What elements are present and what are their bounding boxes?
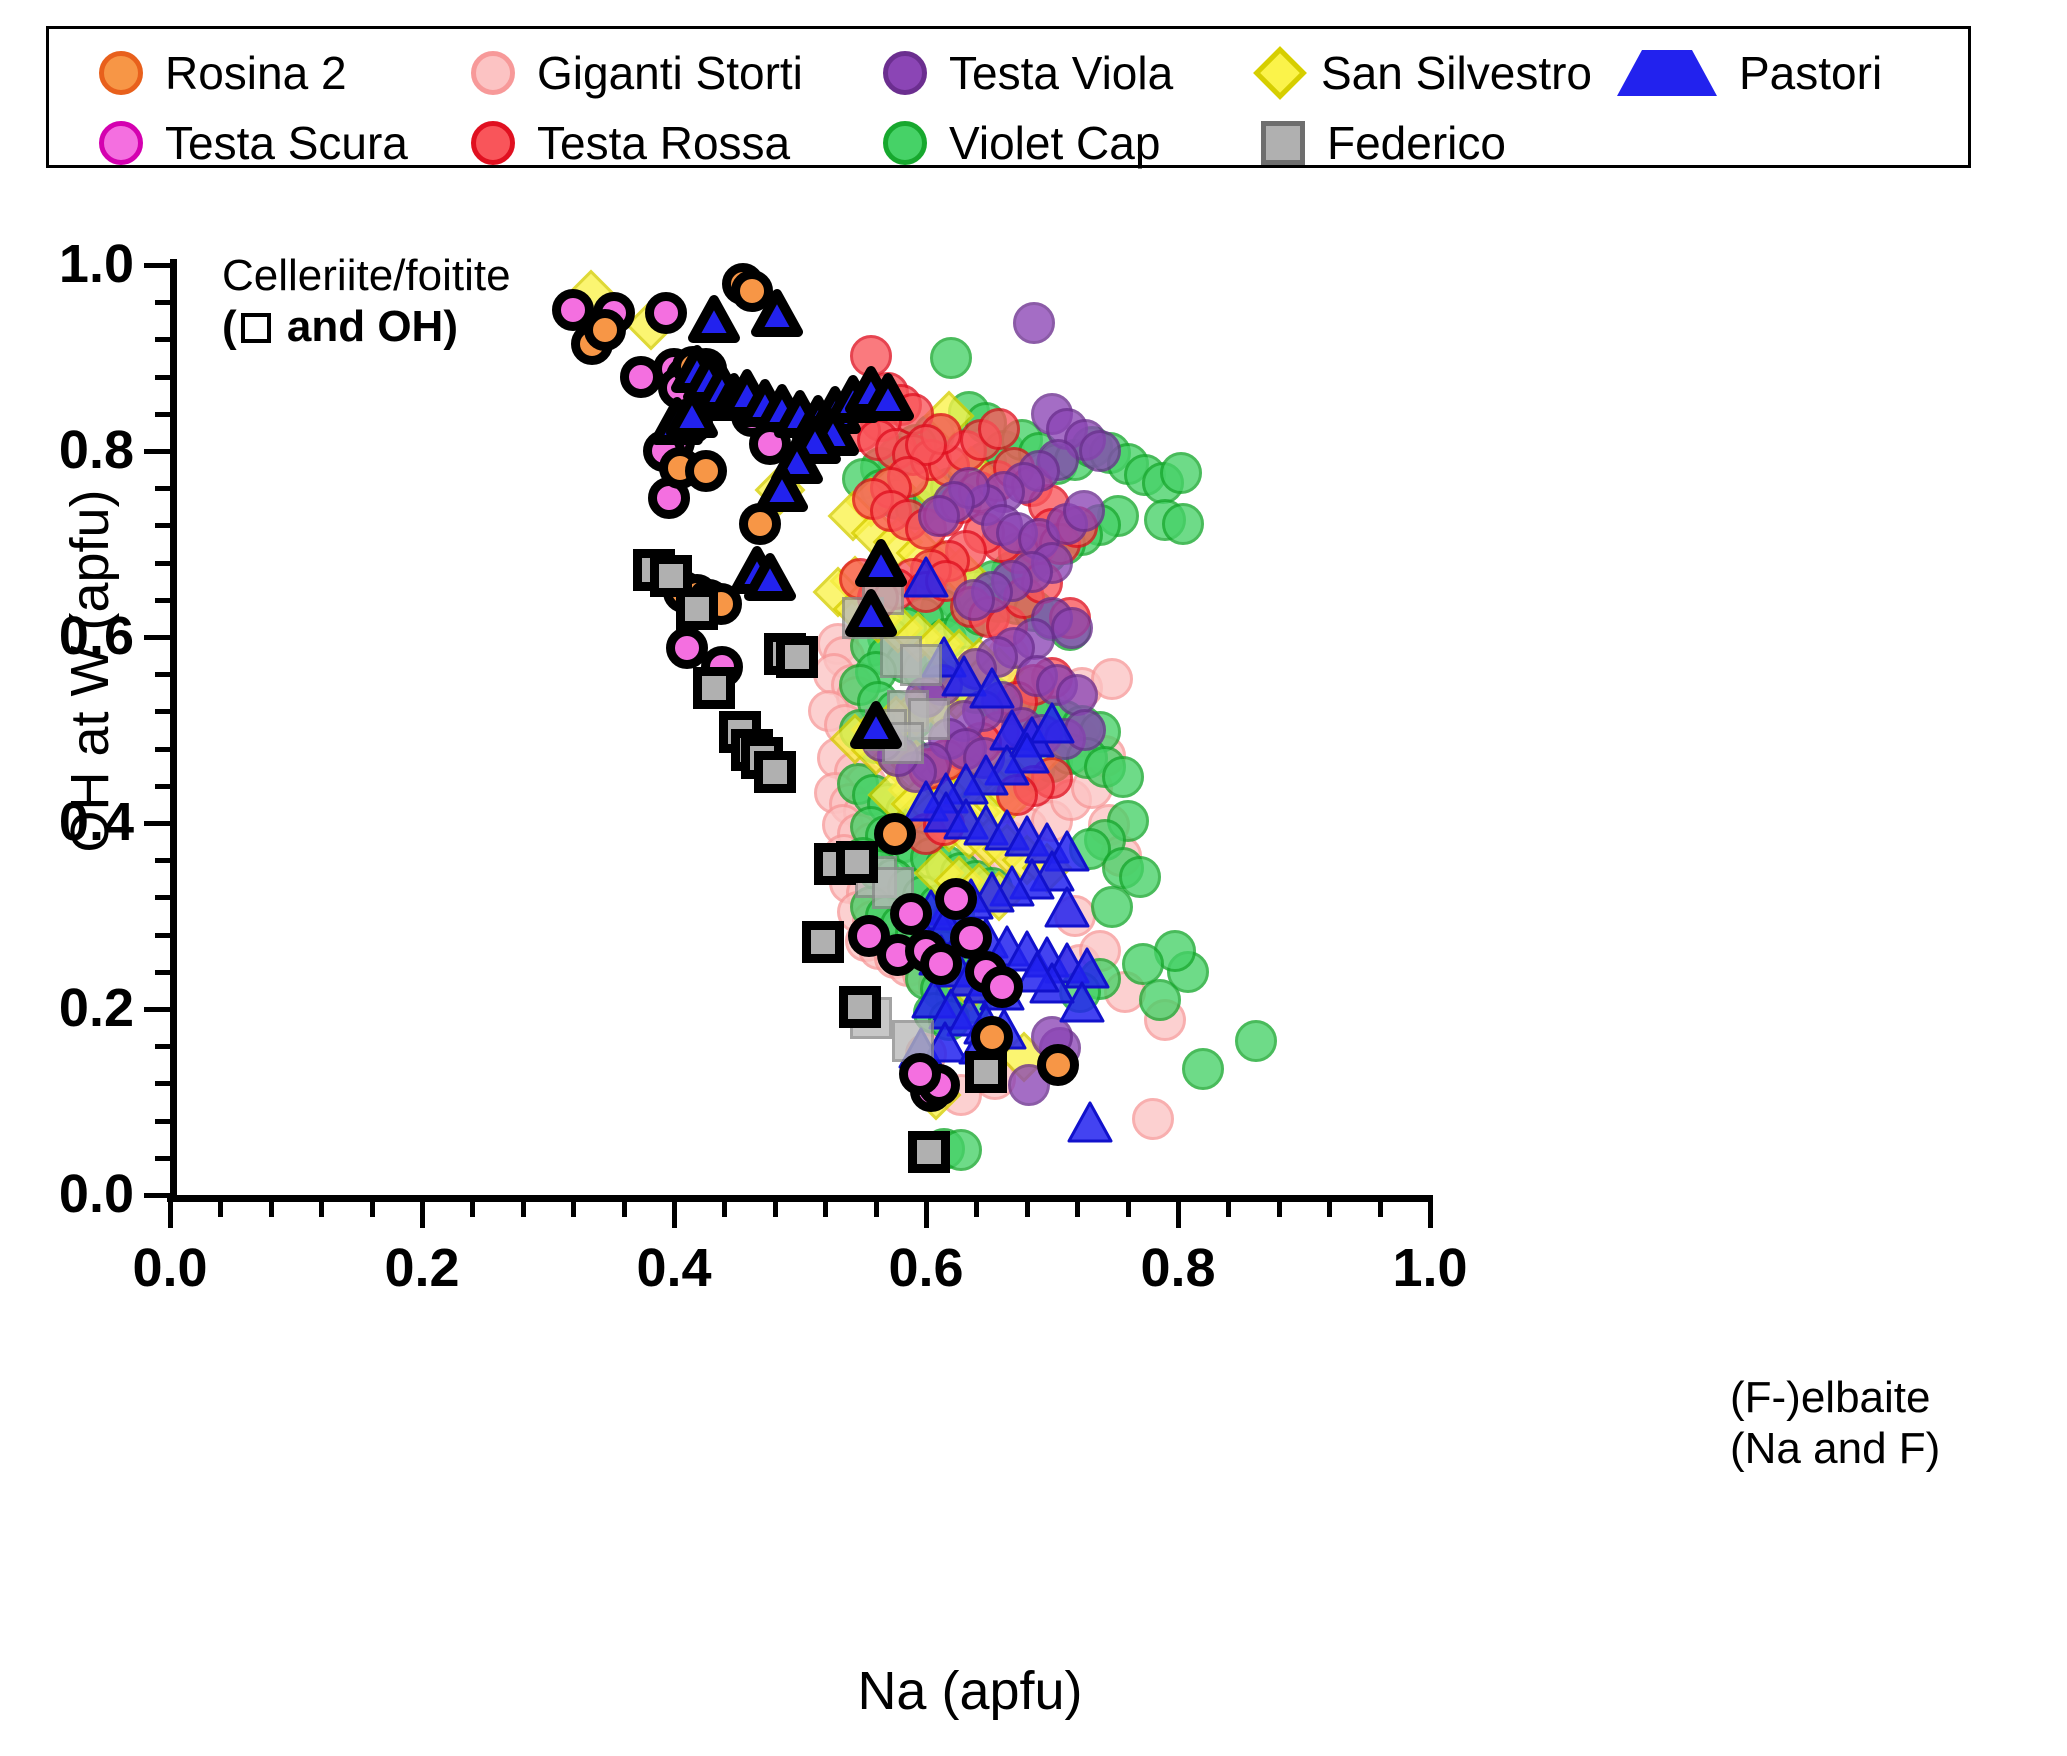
data-point-circle [1160, 452, 1202, 494]
x-tick [722, 1202, 727, 1217]
data-point-circle [1079, 430, 1121, 472]
x-tick-label: 0.0 [70, 1241, 270, 1295]
legend-label: Pastori [1739, 50, 1882, 96]
legend-item-testa-viola[interactable]: Testa Viola [883, 43, 1173, 103]
x-tick [672, 1202, 677, 1228]
x-tick [1025, 1202, 1030, 1217]
legend-item-testa-rossa[interactable]: Testa Rossa [471, 113, 790, 173]
legend-item-san-silvestro[interactable]: San Silvestro [1261, 43, 1592, 103]
data-point-circle [1063, 490, 1105, 532]
y-tick [155, 1119, 170, 1124]
y-tick [155, 412, 170, 417]
legend-item-testa-scura[interactable]: Testa Scura [99, 113, 408, 173]
data-point-triangle [749, 285, 805, 341]
x-tick [168, 1202, 173, 1228]
data-point-square [754, 751, 796, 793]
data-point-triangle [853, 535, 909, 591]
data-point-triangle [843, 585, 899, 641]
x-tick [622, 1202, 627, 1217]
legend-marker-circle-icon [99, 121, 143, 165]
legend-marker-circle-icon [471, 51, 515, 95]
y-tick [155, 858, 170, 863]
data-point-circle [978, 408, 1020, 450]
data-point-circle [1162, 503, 1204, 545]
legend-label: Testa Rossa [537, 120, 790, 166]
x-tick [1277, 1202, 1282, 1217]
y-tick [155, 300, 170, 305]
data-point-circle [1051, 607, 1093, 649]
data-point-circle [1132, 1098, 1174, 1140]
legend-marker-square-icon [1261, 121, 1305, 165]
x-tick [571, 1202, 576, 1217]
data-point-square [802, 921, 844, 963]
annotation-f-elbaite: (F-)elbaite (Na and F) [1730, 1372, 1940, 1474]
y-tick [144, 1007, 170, 1012]
y-tick [155, 1044, 170, 1049]
legend-row-1: Rosina 2Giganti StortiTesta ViolaSan Sil… [49, 43, 1968, 103]
legend-label: Testa Viola [949, 50, 1173, 96]
data-point-circle [874, 813, 916, 855]
x-tick [1428, 1202, 1433, 1228]
y-tick [155, 895, 170, 900]
data-point-circle [1037, 1044, 1079, 1086]
y-tick [155, 486, 170, 491]
x-tick [470, 1202, 475, 1217]
legend-label: Violet Cap [949, 120, 1160, 166]
annotation-br-line-2: (Na and F) [1730, 1423, 1940, 1474]
data-point-triangle [664, 386, 720, 442]
legend: Rosina 2Giganti StortiTesta ViolaSan Sil… [46, 26, 1971, 168]
x-tick [420, 1202, 425, 1228]
y-tick [144, 821, 170, 826]
legend-item-giganti-storti[interactable]: Giganti Storti [471, 43, 803, 103]
x-tick [924, 1202, 929, 1228]
legend-marker-circle-icon [883, 51, 927, 95]
data-point-circle [890, 893, 932, 935]
y-tick-label: 0.0 [0, 1167, 134, 1221]
x-tick [1176, 1202, 1181, 1228]
data-point-circle [1091, 886, 1133, 928]
x-tick [1126, 1202, 1131, 1217]
data-point-circle [918, 495, 960, 537]
data-point-circle [899, 1053, 941, 1095]
y-tick [155, 709, 170, 714]
data-point-circle [685, 450, 727, 492]
x-tick [218, 1202, 223, 1217]
x-tick [269, 1202, 274, 1217]
data-point-square [908, 1131, 950, 1173]
data-point-circle [1235, 1020, 1277, 1062]
legend-item-pastori[interactable]: Pastori [1617, 43, 1882, 103]
y-tick [144, 263, 170, 268]
y-tick [144, 449, 170, 454]
y-tick [155, 672, 170, 677]
y-tick [144, 635, 170, 640]
y-tick [155, 784, 170, 789]
x-tick [823, 1202, 828, 1217]
x-tick-label: 0.8 [1078, 1241, 1278, 1295]
y-tick [155, 561, 170, 566]
x-axis-title: Na (apfu) [720, 1660, 1220, 1722]
x-tick [521, 1202, 526, 1217]
data-point-circle [953, 579, 995, 621]
data-point-square [900, 644, 942, 686]
x-tick-label: 0.6 [826, 1241, 1026, 1295]
x-tick-label: 0.2 [322, 1241, 522, 1295]
legend-marker-circle-icon [471, 121, 515, 165]
data-point-square [693, 667, 735, 709]
x-tick [874, 1202, 879, 1217]
x-tick [1378, 1202, 1383, 1217]
x-tick [370, 1202, 375, 1217]
x-tick [974, 1202, 979, 1217]
data-point-triangle [742, 549, 798, 605]
x-axis-line [167, 1195, 1433, 1202]
data-point-triangle [848, 697, 904, 753]
x-tick [1226, 1202, 1231, 1217]
x-tick [319, 1202, 324, 1217]
data-point-square [965, 1051, 1007, 1093]
y-tick [155, 375, 170, 380]
y-tick [155, 598, 170, 603]
legend-marker-triangle-icon [1617, 50, 1717, 96]
data-point-circle [1122, 943, 1164, 985]
data-point-triangle [686, 291, 742, 347]
x-tick-label: 1.0 [1330, 1241, 1530, 1295]
legend-item-violet-cap[interactable]: Violet Cap [883, 113, 1160, 173]
legend-label: Giganti Storti [537, 50, 803, 96]
legend-item-federico[interactable]: Federico [1261, 113, 1506, 173]
data-point-circle [981, 966, 1023, 1008]
data-point-circle [1013, 302, 1055, 344]
data-point-triangle [754, 460, 810, 516]
y-tick [155, 523, 170, 528]
data-point-triangle [860, 369, 916, 425]
data-point-square [776, 636, 818, 678]
y-axis-title: OH at W (apfu) [59, 351, 121, 991]
legend-marker-circle-icon [99, 51, 143, 95]
legend-label: Rosina 2 [165, 50, 347, 96]
x-tick-label: 0.4 [574, 1241, 774, 1295]
annotation-br-line-1: (F-)elbaite [1730, 1372, 1940, 1423]
y-tick [144, 1193, 170, 1198]
x-tick [773, 1202, 778, 1217]
legend-label: San Silvestro [1321, 50, 1592, 96]
y-tick [155, 337, 170, 342]
y-tick [155, 933, 170, 938]
y-tick [155, 1156, 170, 1161]
y-tick [155, 970, 170, 975]
x-tick [1327, 1202, 1332, 1217]
data-point-circle [1102, 756, 1144, 798]
data-point-circle [930, 337, 972, 379]
y-tick [155, 747, 170, 752]
data-point-square [836, 841, 878, 883]
y-tick [155, 1081, 170, 1086]
legend-item-rosina-2[interactable]: Rosina 2 [99, 43, 347, 103]
y-tick-label: 1.0 [0, 237, 134, 291]
legend-marker-circle-icon [883, 121, 927, 165]
data-point-square [839, 986, 881, 1028]
legend-label: Federico [1327, 120, 1506, 166]
x-tick [1075, 1202, 1080, 1217]
data-point-triangle [1062, 1094, 1118, 1150]
legend-marker-diamond-icon [1253, 46, 1307, 100]
legend-row-2: Testa ScuraTesta RossaViolet CapFederico [49, 113, 1968, 173]
data-point-square [676, 588, 718, 630]
data-point-circle [584, 309, 626, 351]
legend-label: Testa Scura [165, 120, 408, 166]
